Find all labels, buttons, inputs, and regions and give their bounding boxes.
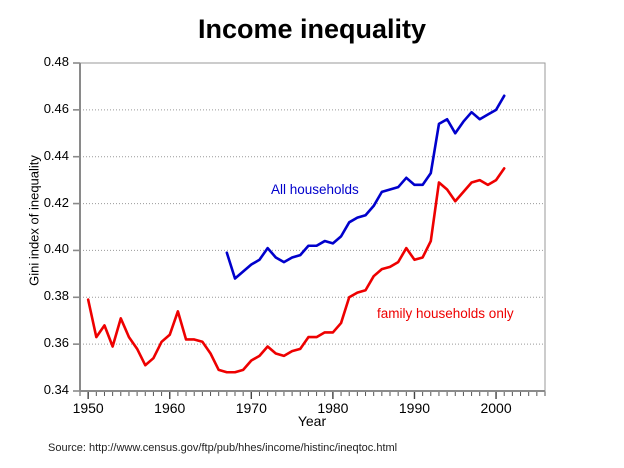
y-tick-label: 0.34 xyxy=(25,382,69,397)
y-tick-label: 0.36 xyxy=(25,335,69,350)
plot-area xyxy=(0,0,624,468)
series-label-family-households: family households only xyxy=(377,306,514,321)
y-tick-label: 0.44 xyxy=(25,148,69,163)
x-tick-label: 1950 xyxy=(58,400,118,416)
series-line-all-households xyxy=(227,96,504,279)
x-tick-label: 1990 xyxy=(384,400,444,416)
y-tick-label: 0.40 xyxy=(25,241,69,256)
axis-lines xyxy=(80,63,545,391)
x-tick-label: 2000 xyxy=(466,400,526,416)
y-tick-label: 0.42 xyxy=(25,195,69,210)
series-lines xyxy=(88,96,504,372)
y-tick-label: 0.48 xyxy=(25,54,69,69)
series-line-family-households xyxy=(88,168,504,372)
series-label-all-households: All households xyxy=(271,182,359,197)
x-tick-label: 1970 xyxy=(221,400,281,416)
x-tick-label: 1980 xyxy=(303,400,363,416)
y-tick-label: 0.38 xyxy=(25,288,69,303)
x-tick-label: 1960 xyxy=(140,400,200,416)
y-tick-label: 0.46 xyxy=(25,101,69,116)
chart-figure: Income inequality Gini index of inequali… xyxy=(0,0,624,468)
source-note: Source: http://www.census.gov/ftp/pub/hh… xyxy=(48,442,397,454)
